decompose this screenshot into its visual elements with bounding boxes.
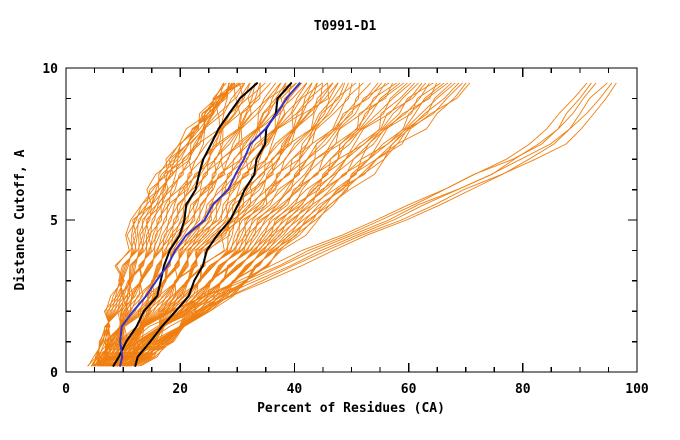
y-tick-label: 5: [50, 214, 58, 229]
x-tick-label: 80: [515, 382, 531, 397]
y-tick-label: 0: [50, 366, 58, 381]
distance-cutoff-plot: T0991-D1 020406080100 0510 Percent of Re…: [0, 0, 680, 440]
chart-container: T0991-D1 020406080100 0510 Percent of Re…: [0, 0, 680, 440]
page-title: T0991-D1: [314, 19, 377, 34]
x-tick-label: 100: [625, 382, 649, 397]
x-tick-label: 40: [287, 382, 303, 397]
x-tick-label: 60: [401, 382, 417, 397]
y-axis-label: Distance Cutoff, A: [13, 149, 28, 290]
x-axis-label: Percent of Residues (CA): [257, 401, 445, 416]
y-tick-label: 10: [42, 62, 58, 77]
x-tick-label: 0: [62, 382, 70, 397]
plot-background: [0, 0, 680, 440]
x-tick-label: 20: [172, 382, 188, 397]
